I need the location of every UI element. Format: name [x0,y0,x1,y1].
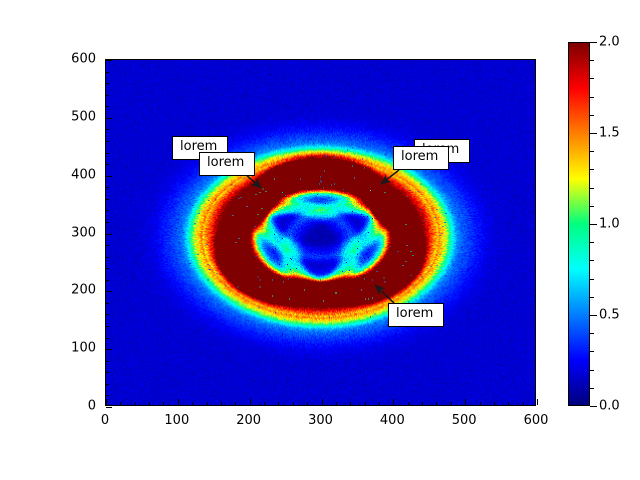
x-tick-label: 100 [164,414,189,427]
y-tick-label: 600 [71,53,96,66]
y-tick-label: 500 [71,110,96,123]
colorbar-major-tick [590,224,597,225]
colorbar-major-tick [590,42,597,43]
colorbar-minor-tick [590,115,594,116]
colorbar-minor-tick [590,333,594,334]
colorbar-tick-label: 1.5 [599,127,620,140]
figure-canvas: 0100200300400500600 0100200300400500600 … [0,0,640,480]
x-tick-label: 0 [101,414,109,427]
colorbar-minor-tick [590,351,594,352]
colorbar-minor-tick [590,97,594,98]
colorbar-minor-tick [590,370,594,371]
colorbar-minor-tick [590,78,594,79]
x-tick-label: 200 [236,414,261,427]
x-tick-label: 400 [380,414,405,427]
colorbar-tick-label: 0.0 [599,400,620,413]
colorbar-tick-label: 1.0 [599,218,620,231]
colorbar-minor-tick [590,60,594,61]
y-axis-tick-labels: 0100200300400500600 [40,0,96,480]
annotation-bottom[interactable]: lorem [388,303,444,327]
colorbar-minor-tick [590,279,594,280]
colorbar-minor-tick [590,297,594,298]
colorbar-minor-tick [590,188,594,189]
colorbar-minor-tick [590,206,594,207]
colorbar-minor-tick [590,260,594,261]
y-tick-label: 200 [71,284,96,297]
colorbar-minor-tick [590,388,594,389]
x-axis-tick-labels: 0100200300400500600 [0,0,640,480]
colorbar-minor-tick [590,151,594,152]
colorbar-tick-labels: 0.00.51.01.52.0 [568,42,638,406]
y-tick-label: 300 [71,226,96,239]
y-tick-label: 0 [88,400,96,413]
colorbar-minor-tick [590,242,594,243]
y-tick-label: 400 [71,168,96,181]
colorbar-tick-label: 2.0 [599,36,620,49]
y-tick-label: 100 [71,342,96,355]
colorbar-major-tick [590,133,597,134]
colorbar-tick-label: 0.5 [599,309,620,322]
colorbar-major-tick [590,315,597,316]
annotation-right-front[interactable]: lorem [393,146,449,170]
x-tick-label: 500 [452,414,477,427]
annotation-left-front[interactable]: lorem [199,152,255,176]
x-tick-label: 600 [524,414,549,427]
x-tick-label: 300 [308,414,333,427]
colorbar-major-tick [590,406,597,407]
colorbar-minor-tick [590,169,594,170]
